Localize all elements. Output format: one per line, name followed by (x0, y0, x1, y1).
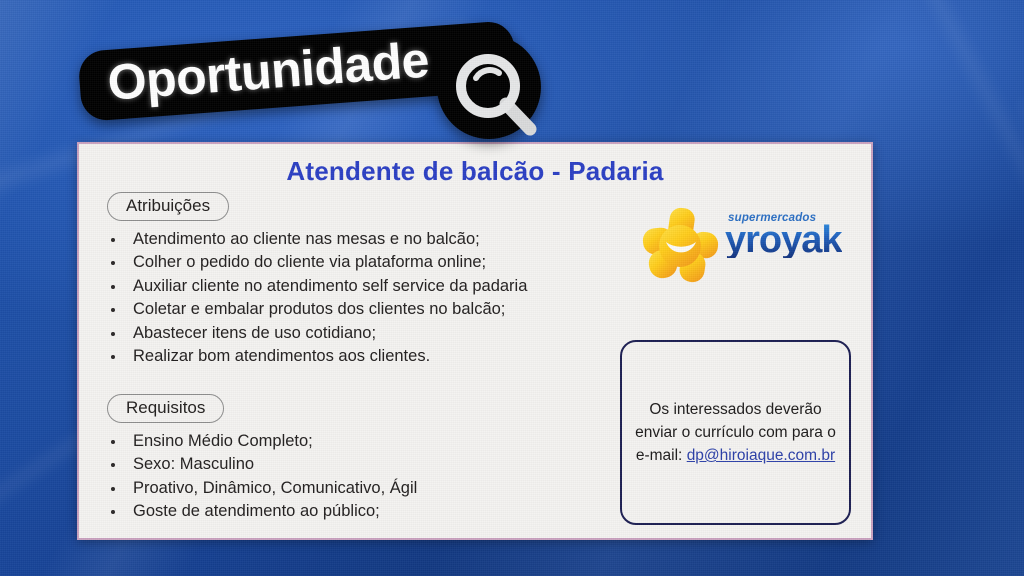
section-label-atribuicoes: Atribuições (107, 192, 229, 221)
company-logo: supermercados yroyak (639, 206, 854, 288)
logo-name: yroyak (725, 222, 842, 258)
list-item: Realizar bom atendimentos aos clientes. (107, 345, 527, 369)
list-item: Ensino Médio Completo; (107, 430, 417, 454)
banner-label: Oportunidade (106, 32, 431, 109)
contact-email-link[interactable]: dp@hiroiaque.com.br (687, 447, 835, 464)
list-item: Coletar e embalar produtos dos clientes … (107, 298, 527, 322)
list-item: Proativo, Dinâmico, Comunicativo, Ágil (107, 477, 417, 501)
logo-wordmark: supermercados yroyak (725, 212, 842, 258)
slide-canvas: Atendente de balcão - Padaria Atribuiçõe… (0, 0, 1024, 576)
list-item: Abastecer itens de uso cotidiano; (107, 322, 527, 346)
requisitos-list: Ensino Médio Completo; Sexo: Masculino P… (107, 430, 417, 524)
magnifying-glass-icon (446, 44, 542, 140)
page-title: Atendente de balcão - Padaria (79, 156, 871, 187)
section-requisitos: Requisitos Ensino Médio Completo; Sexo: … (107, 394, 417, 524)
contact-line-1: Os interessados deverão (649, 401, 821, 418)
contact-text: Os interessados deverão enviar o currícu… (627, 398, 844, 467)
background-sheen (1016, 98, 1024, 420)
job-posting-card: Atendente de balcão - Padaria Atribuiçõe… (77, 142, 873, 540)
section-label-requisitos: Requisitos (107, 394, 224, 423)
contact-email-prefix: e-mail: (636, 447, 687, 464)
contact-box: Os interessados deverão enviar o currícu… (620, 340, 851, 525)
list-item: Sexo: Masculino (107, 453, 417, 477)
list-item: Auxiliar cliente no atendimento self ser… (107, 275, 527, 299)
contact-line-2: enviar o currículo com para o (635, 424, 836, 441)
section-atribuicoes: Atribuições Atendimento ao cliente nas m… (107, 192, 527, 369)
list-item: Atendimento ao cliente nas mesas e no ba… (107, 228, 527, 252)
yroyak-flower-icon (639, 206, 721, 286)
background-sheen (864, 0, 1024, 266)
list-item: Colher o pedido do cliente via plataform… (107, 251, 527, 275)
list-item: Goste de atendimento ao público; (107, 500, 417, 524)
atribuicoes-list: Atendimento ao cliente nas mesas e no ba… (107, 228, 527, 369)
